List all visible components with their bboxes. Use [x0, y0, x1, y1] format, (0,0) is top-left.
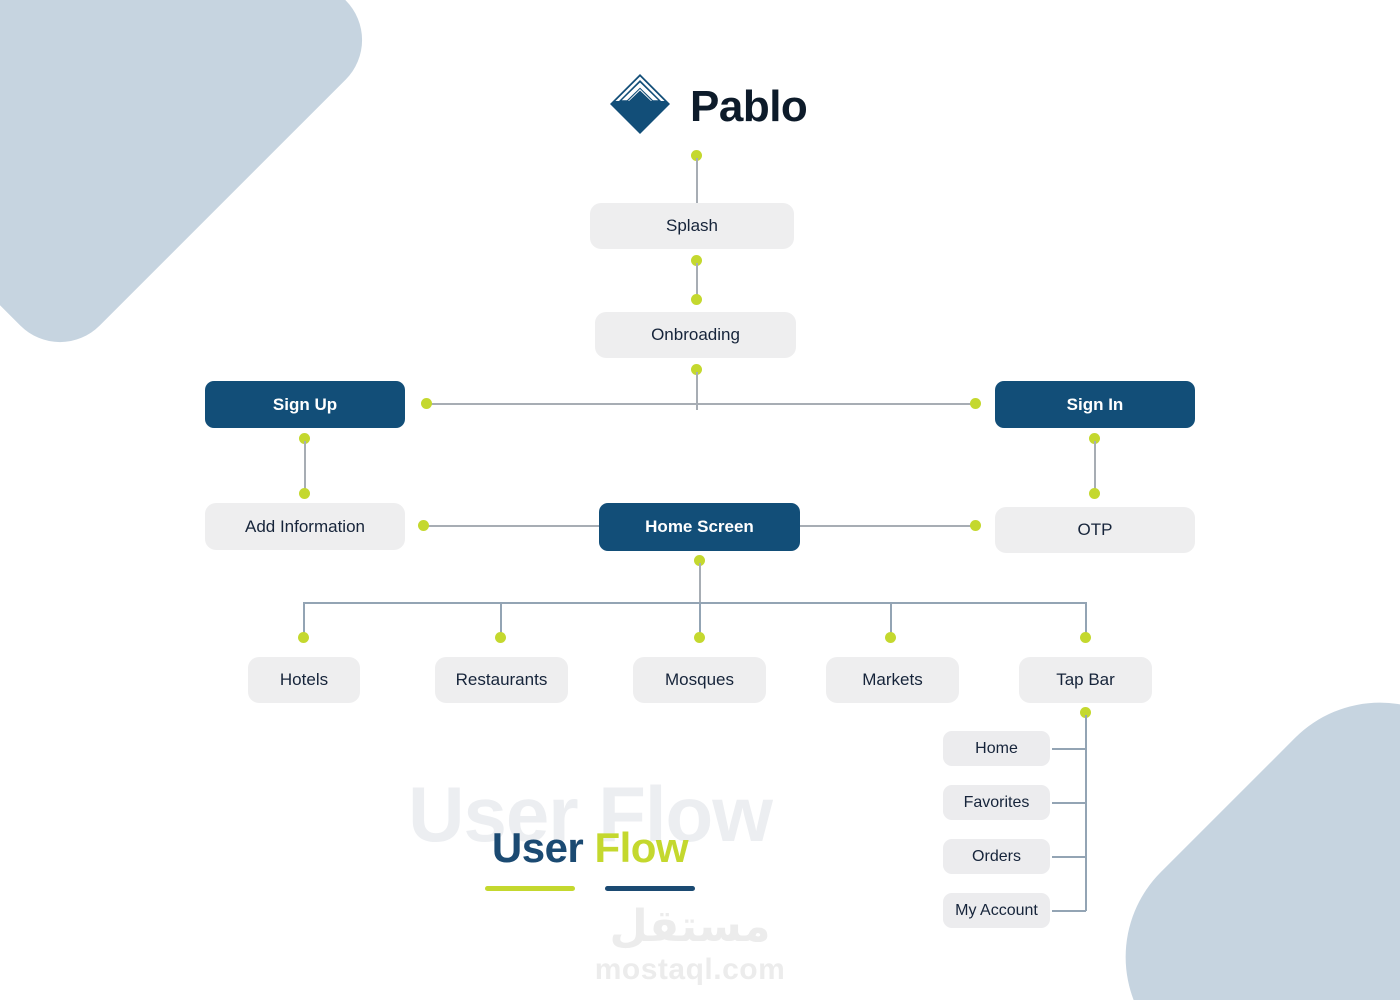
node-onbroading[interactable]: Onbroading: [595, 312, 796, 358]
page-title-word-2: Flow: [594, 824, 688, 871]
watermark-latin: mostaql.com: [520, 955, 860, 985]
connector-dot: [299, 488, 310, 499]
node-label: Tap Bar: [1056, 670, 1115, 690]
node-splash[interactable]: Splash: [590, 203, 794, 249]
decor-shape-bottom-right: [1076, 653, 1400, 1000]
node-tapbar-my-account[interactable]: My Account: [943, 893, 1050, 928]
connector-line-logo-splash: [696, 158, 698, 203]
node-label: Home Screen: [645, 517, 754, 537]
node-sign-up[interactable]: Sign Up: [205, 381, 405, 428]
node-label: OTP: [1078, 520, 1113, 540]
connector-dot: [691, 294, 702, 305]
connector-line-addinfo-home: [428, 525, 599, 527]
page-title-word-1: User: [492, 824, 583, 871]
node-label: Sign Up: [273, 395, 337, 415]
connector-line-auth-left: [428, 403, 698, 405]
connector-dot: [421, 398, 432, 409]
decor-shape-top-left: [0, 0, 385, 365]
node-tapbar-favorites[interactable]: Favorites: [943, 785, 1050, 820]
node-home-screen[interactable]: Home Screen: [599, 503, 800, 551]
connector-dot: [970, 520, 981, 531]
connector-dot: [418, 520, 429, 531]
node-label: Splash: [666, 216, 718, 236]
user-flow-canvas: User Flow Pablo Splash Onbroading Sign: [0, 0, 1400, 1000]
connector-line-home-otp: [800, 525, 972, 527]
node-label: Home: [975, 740, 1018, 758]
page-title: User Flow: [340, 824, 840, 872]
connector-dot: [495, 632, 506, 643]
node-add-information[interactable]: Add Information: [205, 503, 405, 550]
node-label: Favorites: [964, 794, 1030, 812]
node-label: My Account: [955, 902, 1038, 920]
connector-line-signin-otp: [1094, 441, 1096, 491]
node-otp[interactable]: OTP: [995, 507, 1195, 553]
node-tap-bar[interactable]: Tap Bar: [1019, 657, 1152, 703]
connector-dot: [885, 632, 896, 643]
node-label: Mosques: [665, 670, 734, 690]
connector-line-home-bus: [699, 563, 701, 603]
connector-dot: [1080, 632, 1091, 643]
connector-line-auth-right: [698, 403, 976, 405]
mostaql-watermark: مستقل mostaql.com: [520, 905, 860, 985]
title-bar-navy: [605, 886, 695, 891]
connector-tapbar-spine: [1085, 715, 1087, 911]
connector-tapbar-favorites: [1052, 802, 1086, 804]
node-sign-in[interactable]: Sign In: [995, 381, 1195, 428]
node-restaurants[interactable]: Restaurants: [435, 657, 568, 703]
connector-bus-horizontal: [303, 602, 1086, 604]
node-label: Markets: [862, 670, 922, 690]
watermark-arabic: مستقل: [520, 905, 860, 949]
node-label: Add Information: [245, 517, 365, 537]
node-label: Restaurants: [456, 670, 548, 690]
node-hotels[interactable]: Hotels: [248, 657, 360, 703]
node-label: Sign In: [1067, 395, 1124, 415]
connector-tapbar-my-account: [1052, 910, 1086, 912]
node-label: Hotels: [280, 670, 328, 690]
node-label: Orders: [972, 848, 1021, 866]
connector-tapbar-orders: [1052, 856, 1086, 858]
node-tapbar-home[interactable]: Home: [943, 731, 1050, 766]
connector-tapbar-home: [1052, 748, 1086, 750]
connector-line-signup-addinfo: [304, 441, 306, 491]
node-tapbar-orders[interactable]: Orders: [943, 839, 1050, 874]
connector-dot: [970, 398, 981, 409]
brand-logo: Pablo: [604, 68, 807, 145]
connector-dot: [1089, 488, 1100, 499]
connector-dot: [298, 632, 309, 643]
node-mosques[interactable]: Mosques: [633, 657, 766, 703]
connector-dot: [694, 632, 705, 643]
title-underline-bars: [340, 886, 840, 891]
node-markets[interactable]: Markets: [826, 657, 959, 703]
pablo-mountain-logo-icon: [604, 68, 676, 145]
brand-name: Pablo: [690, 82, 807, 132]
node-label: Onbroading: [651, 325, 740, 345]
title-bar-lime: [485, 886, 575, 891]
